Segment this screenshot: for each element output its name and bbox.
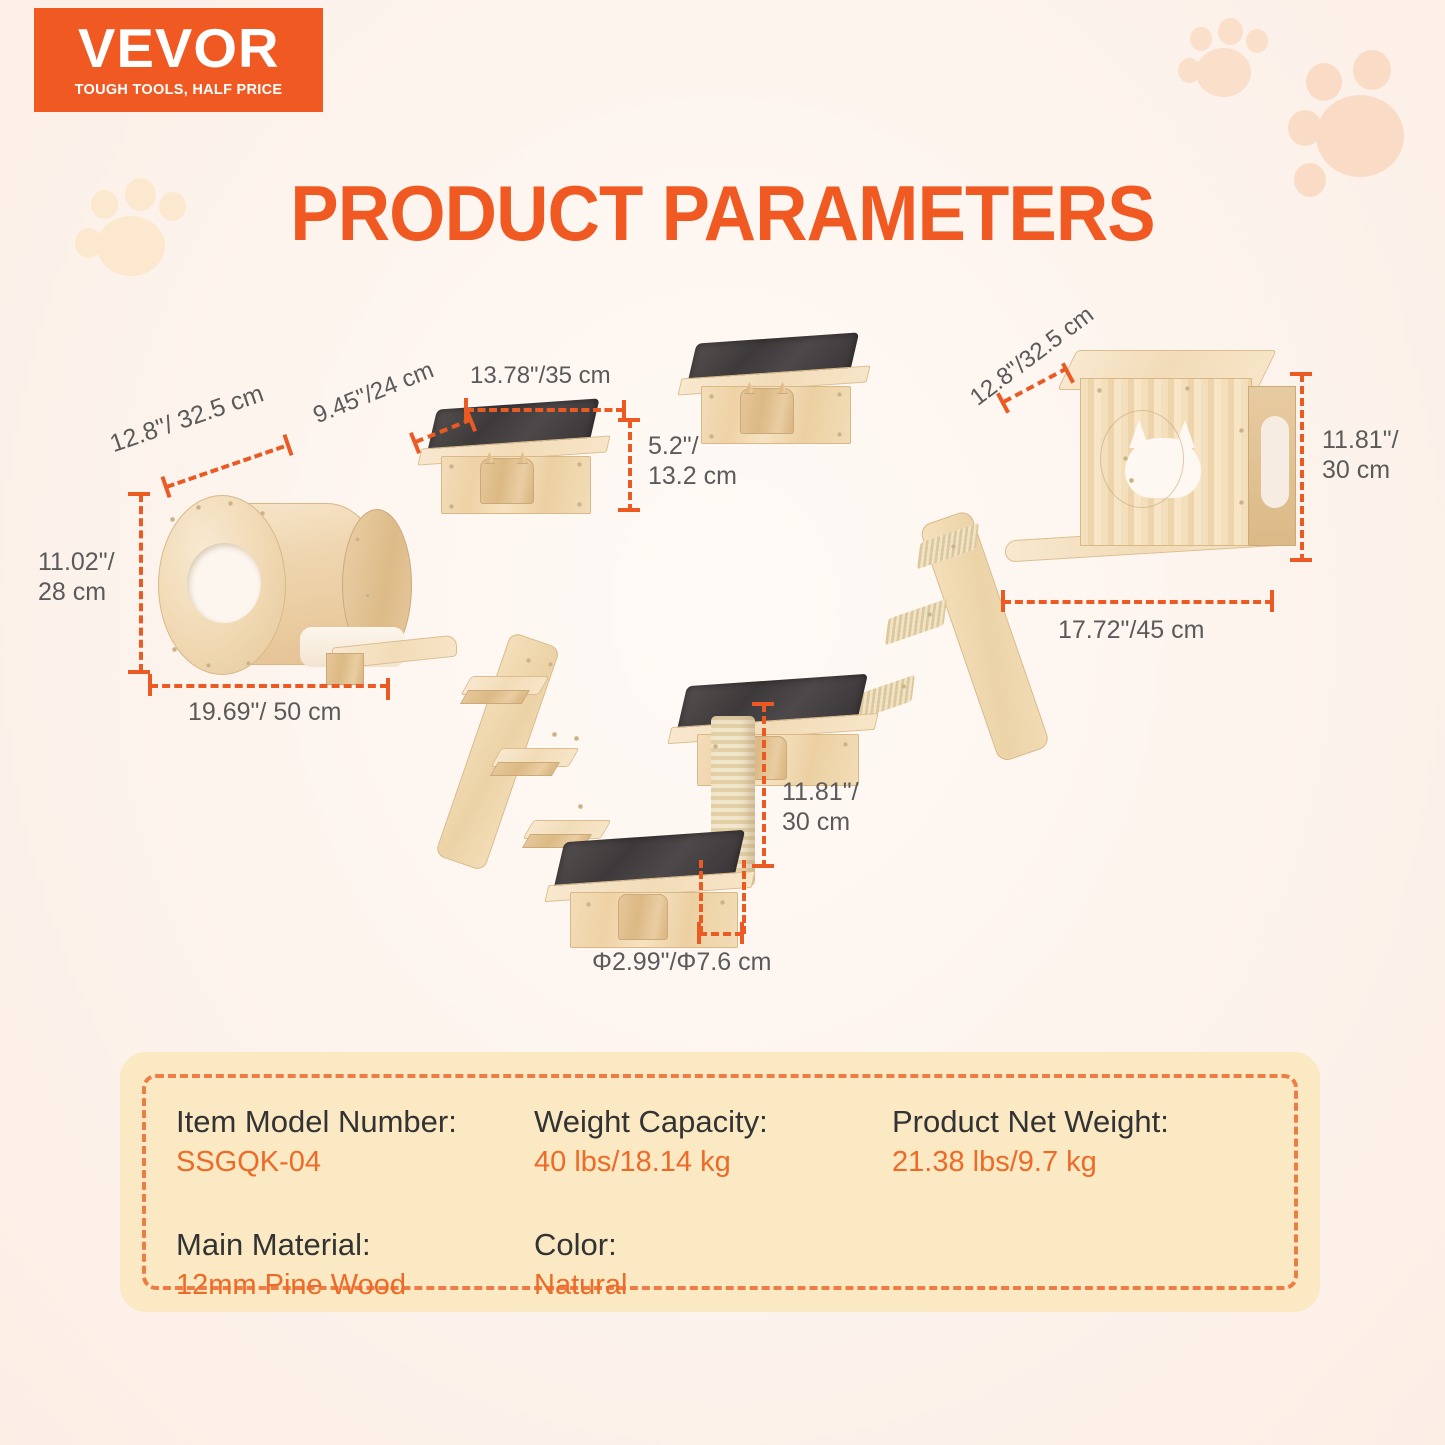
dim-house-base-width-label: 17.72"/45 cm: [1058, 616, 1204, 646]
shelf-height-line: [628, 420, 632, 512]
dim-tunnel-width-label: 19.69"/ 50 cm: [188, 698, 341, 728]
tunnel-depth-line: [166, 445, 285, 489]
spec-product-net-weight: Product Net Weight: 21.38 lbs/9.7 kg: [892, 1102, 1250, 1181]
spec-key: Main Material:: [176, 1225, 534, 1266]
page-title: PRODUCT PARAMETERS: [51, 168, 1395, 259]
tunnel-width-line: [150, 684, 388, 688]
shelf-width-line: [466, 408, 624, 412]
spec-weight-capacity: Weight Capacity: 40 lbs/18.14 kg: [534, 1102, 892, 1181]
spec-value: 12mm Pine Wood: [176, 1266, 534, 1304]
cat-house-cube: [1005, 348, 1310, 598]
house-height-line: [1300, 374, 1304, 562]
dim-tunnel-depth-label: 12.8"/ 32.5 cm: [106, 379, 267, 459]
dim-shelf-width-label: 13.78"/35 cm: [470, 362, 611, 390]
spec-main-material: Main Material: 12mm Pine Wood: [176, 1225, 534, 1304]
spec-key: Weight Capacity:: [534, 1102, 892, 1143]
spec-value: SSGQK-04: [176, 1143, 534, 1181]
specifications-panel: Item Model Number: SSGQK-04 Weight Capac…: [120, 1052, 1320, 1312]
spec-key: Item Model Number:: [176, 1102, 534, 1143]
cat-tunnel: [150, 495, 430, 680]
post-height-line: [762, 704, 766, 868]
paw-print-top-right-small-icon: [1178, 18, 1283, 114]
spec-value: 40 lbs/18.14 kg: [534, 1143, 892, 1181]
spec-key: Color:: [534, 1225, 892, 1266]
tunnel-height-line: [139, 494, 143, 672]
spec-color: Color: Natural: [534, 1225, 892, 1304]
dim-post-diameter-label: Φ2.99"/Φ7.6 cm: [592, 948, 771, 978]
spec-key: Product Net Weight:: [892, 1102, 1250, 1143]
product-diagram: 12.8"/ 32.5 cm 11.02"/ 28 cm 19.69"/ 50 …: [0, 280, 1445, 1020]
page-root: VEVOR TOUGH TOOLS, HALF PRICE PRODUCT PA…: [0, 0, 1445, 1445]
post-diameter-line: [699, 932, 743, 936]
spec-value: 21.38 lbs/9.7 kg: [892, 1143, 1250, 1181]
dim-tunnel-height-label: 11.02"/ 28 cm: [38, 548, 115, 607]
vevor-logo: VEVOR TOUGH TOOLS, HALF PRICE: [34, 8, 323, 112]
house-base-width-line: [1003, 600, 1273, 604]
logo-wordmark: VEVOR: [78, 22, 280, 74]
spec-row: Main Material: 12mm Pine Wood Color: Nat…: [176, 1225, 1280, 1304]
wall-step-shelf-small: [405, 404, 620, 519]
spec-empty-cell: [892, 1225, 1250, 1304]
dim-post-height-label: 11.81"/ 30 cm: [782, 778, 859, 837]
spec-value: Natural: [534, 1266, 892, 1304]
logo-tagline: TOUGH TOOLS, HALF PRICE: [75, 82, 283, 98]
spec-row: Item Model Number: SSGQK-04 Weight Capac…: [176, 1102, 1280, 1181]
dim-shelf-height-label: 5.2"/ 13.2 cm: [648, 432, 737, 491]
spec-item-model-number: Item Model Number: SSGQK-04: [176, 1102, 534, 1181]
dim-house-height-label: 11.81"/ 30 cm: [1322, 426, 1399, 485]
